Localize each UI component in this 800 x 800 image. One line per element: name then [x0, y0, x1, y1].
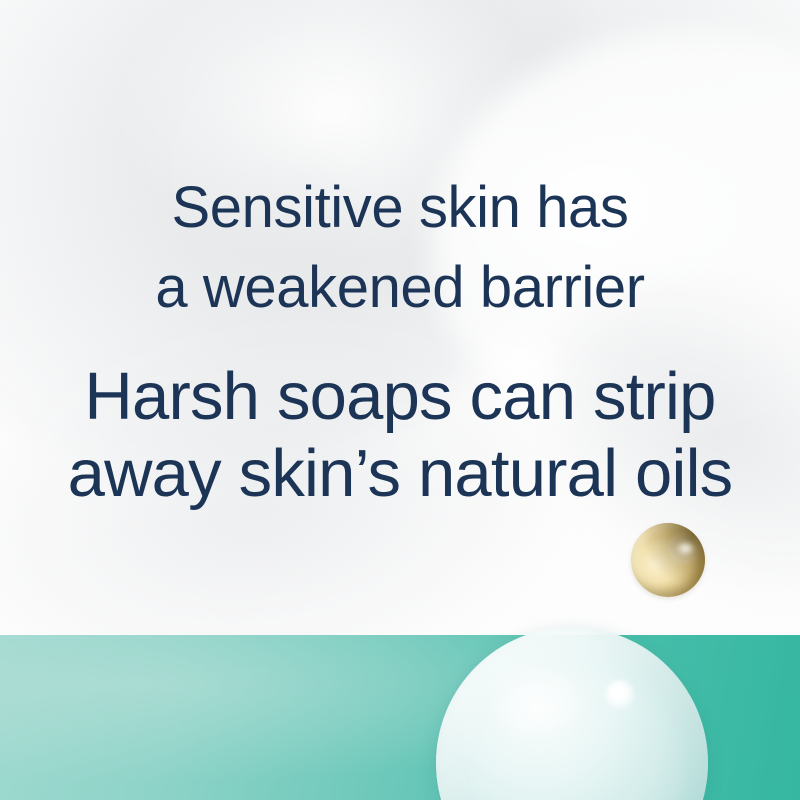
- headline-line-1: Sensitive skin has: [0, 168, 800, 248]
- water-bubble-highlight: [605, 680, 635, 710]
- headline-line-4: away skin’s natural oils: [0, 435, 800, 512]
- headline-line-2: a weakened barrier: [0, 248, 800, 328]
- oil-droplet-shading: [631, 523, 705, 597]
- headline-block-one: Sensitive skin has a weakened barrier: [0, 168, 800, 328]
- oil-droplet-highlight: [677, 542, 694, 555]
- water-bubble-soft-highlight: [480, 661, 590, 741]
- oil-droplet-icon: [631, 523, 705, 597]
- promo-banner: Sensitive skin has a weakened barrier Ha…: [0, 0, 800, 800]
- headline-line-3: Harsh soaps can strip: [0, 358, 800, 435]
- headline-block-two: Harsh soaps can strip away skin’s natura…: [0, 358, 800, 512]
